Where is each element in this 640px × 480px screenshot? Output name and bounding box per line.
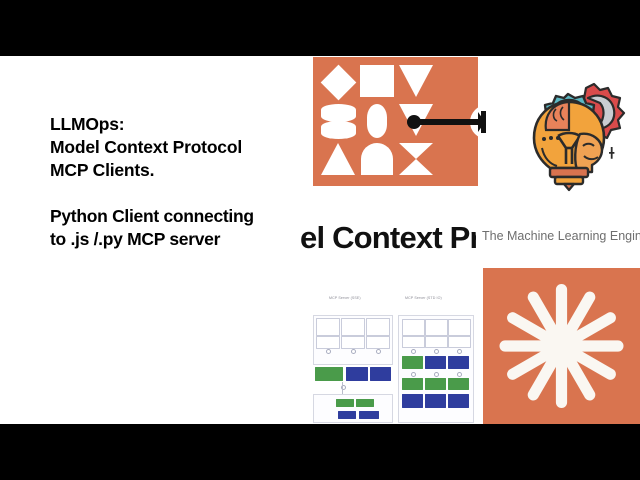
title-line-1: LLMOps:: [50, 113, 298, 136]
starburst-logo: [483, 268, 640, 424]
shape-triangle-down-1: [399, 65, 434, 100]
letterbox-top: [0, 0, 640, 56]
shape-diamond: [321, 65, 356, 100]
letterbox-bottom: [0, 424, 640, 480]
diagram-node: [411, 349, 416, 354]
diagram-box-blue: [425, 394, 446, 408]
ai-brain-lightbulb-gear-logo: [508, 76, 628, 196]
diagram-box-blue: [370, 367, 391, 381]
diagram-connector: [342, 382, 343, 394]
ml-engineer-card: The Machine Learning Engine: [476, 212, 640, 264]
title-block: LLMOps: Model Context Protocol MCP Clien…: [50, 113, 298, 251]
diagram-node: [434, 372, 439, 377]
diagram-box: [341, 336, 365, 349]
shape-square: [360, 65, 395, 100]
diagram-box: [316, 318, 340, 336]
diagram-right-processes: [398, 315, 474, 423]
diagram-box-blue: [346, 367, 368, 381]
diagram-node: [457, 349, 462, 354]
diagram-node: [351, 349, 356, 354]
subtitle-block: Python Client connecting to .js /.py MCP…: [50, 205, 298, 251]
slide-stage: LLMOps: Model Context Protocol MCP Clien…: [0, 56, 640, 424]
diagram-box: [402, 336, 425, 348]
mcp-architecture-diagram: MCP Server (SSE) MCP Server (STD IO): [305, 282, 477, 424]
diagram-box-blue: [425, 356, 446, 369]
diagram-node: [434, 349, 439, 354]
subtitle-line-1: Python Client connecting: [50, 205, 298, 228]
diagram-left-title: MCP Server (SSE): [329, 296, 361, 300]
diagram-left-clients: [313, 315, 393, 365]
video-thumbnail-frame: LLMOps: Model Context Protocol MCP Clien…: [0, 0, 640, 480]
diagram-box-green: [336, 399, 354, 407]
diagram-box: [341, 318, 365, 336]
shape-bowtie: [399, 143, 434, 178]
diagram-box: [402, 319, 425, 336]
geometric-shapes-graphic: [313, 57, 478, 186]
shape-dome: [360, 143, 395, 178]
diagram-node: [457, 372, 462, 377]
diagram-node: [376, 349, 381, 354]
diagram-node: [411, 372, 416, 377]
shape-leaf: [360, 104, 395, 139]
starburst-icon: [483, 268, 640, 424]
diagram-box-green: [356, 399, 374, 407]
diagram-box-green: [315, 367, 343, 381]
ml-engineer-label: The Machine Learning Engine: [482, 229, 640, 243]
diagram-box-green: [402, 356, 423, 369]
diagram-box-blue: [359, 411, 379, 419]
diagram-right-title: MCP Server (STD IO): [405, 296, 442, 300]
diagram-box: [448, 319, 471, 336]
diagram-box-green: [425, 378, 446, 390]
title-line-2: Model Context Protocol: [50, 136, 298, 159]
diagram-box-blue: [338, 411, 356, 419]
diagram-box: [366, 318, 390, 336]
dumbbell-connector-icon: [405, 109, 500, 135]
diagram-box: [448, 336, 471, 348]
diagram-box: [316, 336, 340, 349]
title-line-3: MCP Clients.: [50, 159, 298, 182]
mcp-heading-text: el Context Pro: [300, 220, 499, 256]
shape-double-lobe: [321, 104, 356, 139]
subtitle-line-2: to .js /.py MCP server: [50, 228, 298, 251]
bulb-base-icon: [550, 168, 588, 190]
shape-triangle-up: [321, 143, 356, 178]
diagram-server-process: [313, 394, 393, 423]
diagram-box: [425, 336, 448, 348]
diagram-box: [425, 319, 448, 336]
face-profile-icon: [575, 134, 602, 172]
diagram-box-green: [448, 378, 469, 390]
diagram-box: [366, 336, 390, 349]
diagram-box-green: [402, 378, 423, 390]
diagram-box-blue: [402, 394, 423, 408]
diagram-box-blue: [448, 356, 469, 369]
diagram-box-blue: [448, 394, 469, 408]
diagram-node: [326, 349, 331, 354]
